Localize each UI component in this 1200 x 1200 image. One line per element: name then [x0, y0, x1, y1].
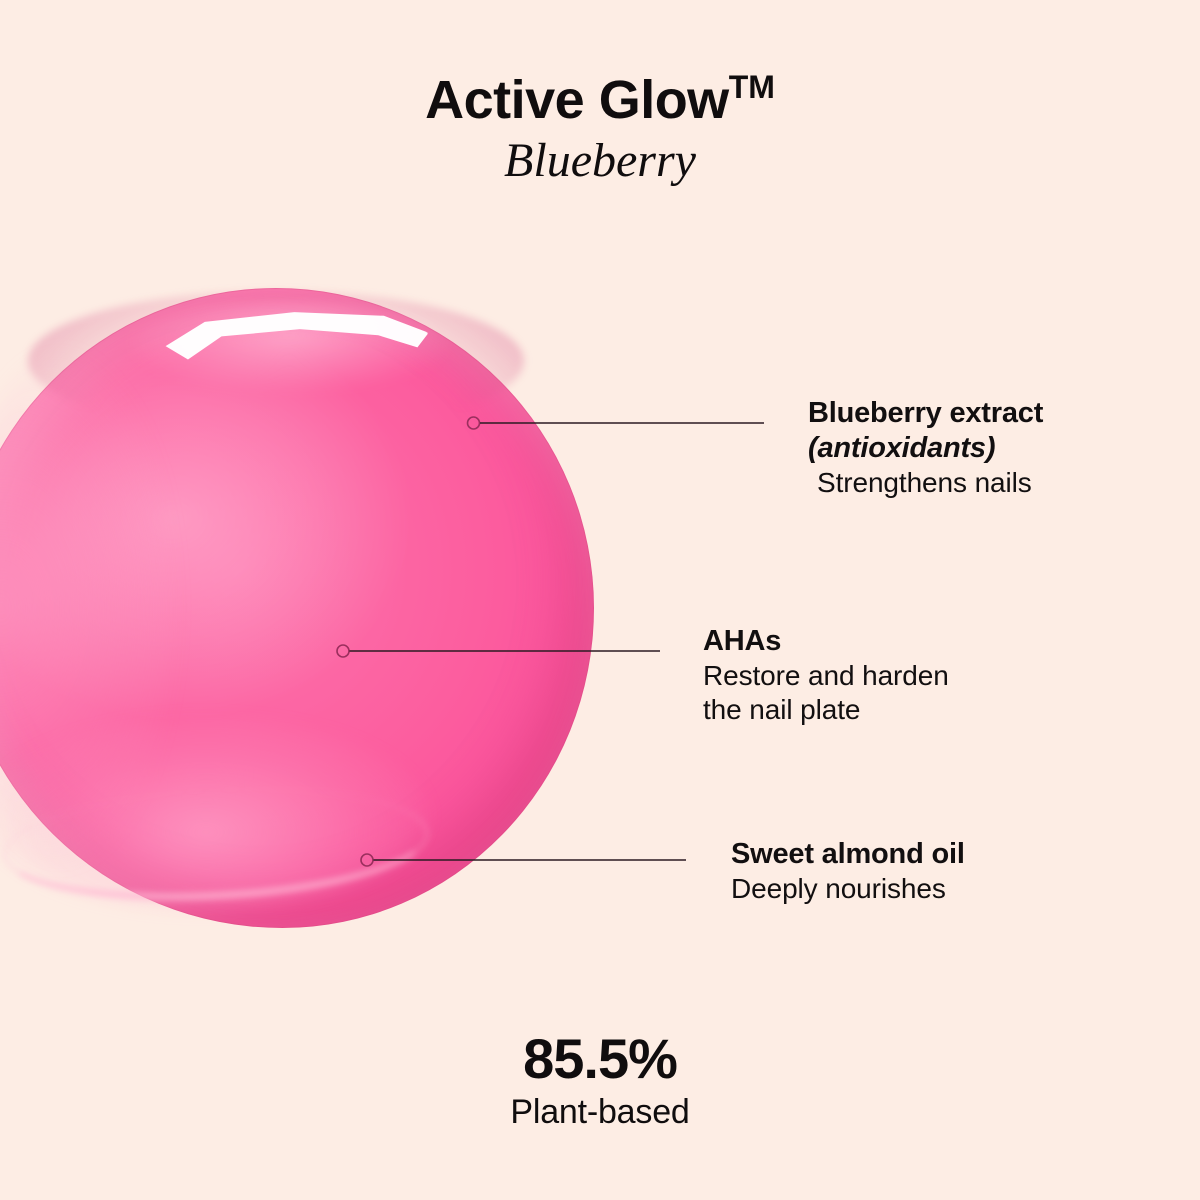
header: Active GlowTM Blueberry — [0, 56, 1200, 189]
leader-line-2 — [335, 644, 668, 658]
callout-1-subtitle: Strengthens nails — [808, 466, 1043, 500]
callout-3-title: Sweet almond oil — [731, 837, 965, 872]
stat-value: 85.5% — [0, 1028, 1200, 1090]
callout-3-text: Sweet almond oil Deeply nourishes — [731, 837, 965, 906]
callout-1-title-emphasis: (antioxidants) — [808, 431, 1043, 466]
product-variant: Blueberry — [0, 133, 1200, 189]
callout-2-text: AHAs Restore and harden the nail plate — [703, 624, 949, 727]
callout-3-subtitle: Deeply nourishes — [731, 872, 965, 906]
page-title: Active GlowTM — [0, 56, 1200, 131]
callout-1-text: Blueberry extract (antioxidants) Strengt… — [808, 396, 1043, 500]
callout-2-subtitle-line-2: the nail plate — [703, 693, 949, 727]
callout-1-title: Blueberry extract — [808, 396, 1043, 431]
leader-line-3 — [359, 853, 694, 867]
callout-2-subtitle-line-1: Restore and harden — [703, 659, 949, 693]
product-infographic: Active GlowTM Blueberry Blueberry extrac… — [0, 0, 1200, 1200]
callout-2-title: AHAs — [703, 624, 949, 659]
brand-name: Active Glow — [425, 70, 729, 130]
leader-line-1 — [466, 416, 772, 430]
plant-based-stat: 85.5% Plant-based — [0, 1028, 1200, 1133]
stat-label: Plant-based — [0, 1091, 1200, 1133]
polish-droplet — [0, 288, 594, 928]
trademark-symbol: TM — [729, 69, 775, 105]
